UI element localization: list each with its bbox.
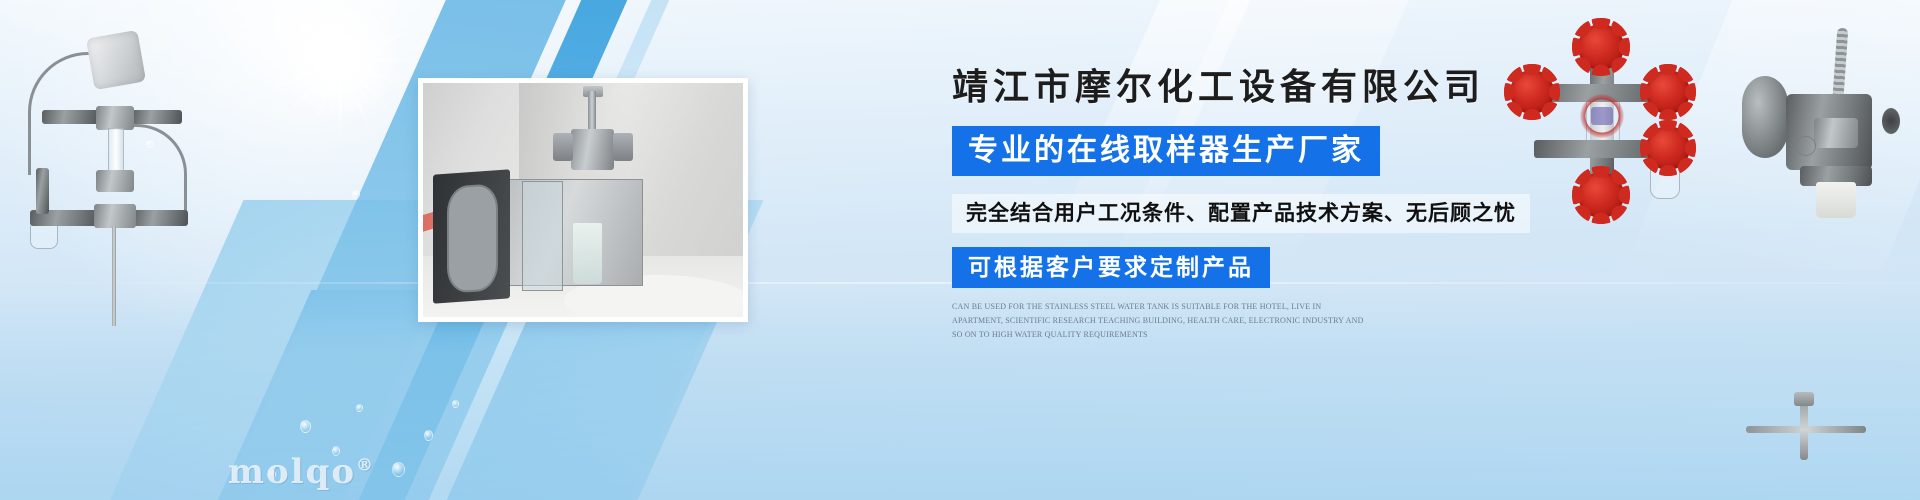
water-droplet xyxy=(392,462,405,477)
headline-badge: 专业的在线取样器生产厂家 xyxy=(952,126,1380,176)
sampler-pipe-right xyxy=(130,124,187,219)
photo-sample-bottle xyxy=(573,223,602,284)
sampler-arm-top-right xyxy=(132,110,182,124)
watermark-registered-mark: ® xyxy=(356,456,375,476)
water-droplet xyxy=(424,430,433,441)
sampler-relief-valve xyxy=(36,168,49,214)
sampler-probe-shaft xyxy=(112,226,116,326)
water-droplet xyxy=(300,420,311,433)
handwheel-right-lower xyxy=(1646,126,1690,170)
valve-outlet-cup xyxy=(1816,182,1856,218)
handwheel-top xyxy=(1578,24,1624,70)
watermark-text: molqo xyxy=(228,452,356,492)
subline-badge: 完全结合用户工况条件、配置产品技术方案、无后顾之忧 xyxy=(952,194,1530,233)
watermark-logo: molqo® xyxy=(228,452,375,492)
sampler-block-upper xyxy=(96,106,134,130)
promo-banner: 靖江市摩尔化工设备有限公司 专业的在线取样器生产厂家 完全结合用户工况条件、配置… xyxy=(0,0,1920,500)
sampler-arm-top-left xyxy=(42,110,100,124)
left-product-image xyxy=(8,18,188,318)
photo-cabinet-door xyxy=(433,169,510,303)
handwheel-bottom xyxy=(1578,172,1624,218)
valve-badge-icon xyxy=(1796,136,1816,156)
sampler-actuator-head xyxy=(86,30,146,90)
photo-cabinet xyxy=(493,179,642,286)
water-droplet xyxy=(356,404,363,412)
valve-bore xyxy=(1882,108,1900,134)
center-product-photo xyxy=(418,78,748,322)
valve-neck xyxy=(1814,118,1858,148)
sampler-sight-glass xyxy=(108,128,124,176)
handwheel-left xyxy=(1510,70,1554,114)
bottom-right-fitting xyxy=(1746,400,1866,460)
sampler-sample-cup xyxy=(30,226,58,249)
tagline-badge: 可根据客户要求定制产品 xyxy=(952,247,1270,288)
handwheel-right-upper xyxy=(1646,70,1690,114)
water-droplet xyxy=(452,400,459,408)
photo-sampling-valve xyxy=(551,97,634,191)
right-product-lever-valve xyxy=(1744,32,1912,232)
right-product-cross-valve xyxy=(1516,28,1696,213)
sampler-block-lower xyxy=(94,204,136,228)
sampler-block-middle xyxy=(96,170,134,192)
water-droplet xyxy=(352,190,360,199)
sampler-arm-right xyxy=(132,210,188,226)
photo-cabinet-window xyxy=(522,181,562,291)
cross-logo-seal-icon xyxy=(1576,90,1628,142)
english-description: CAN BE USED FOR THE STAINLESS STEEL WATE… xyxy=(952,300,1372,342)
valve-flange-left xyxy=(1742,76,1788,158)
